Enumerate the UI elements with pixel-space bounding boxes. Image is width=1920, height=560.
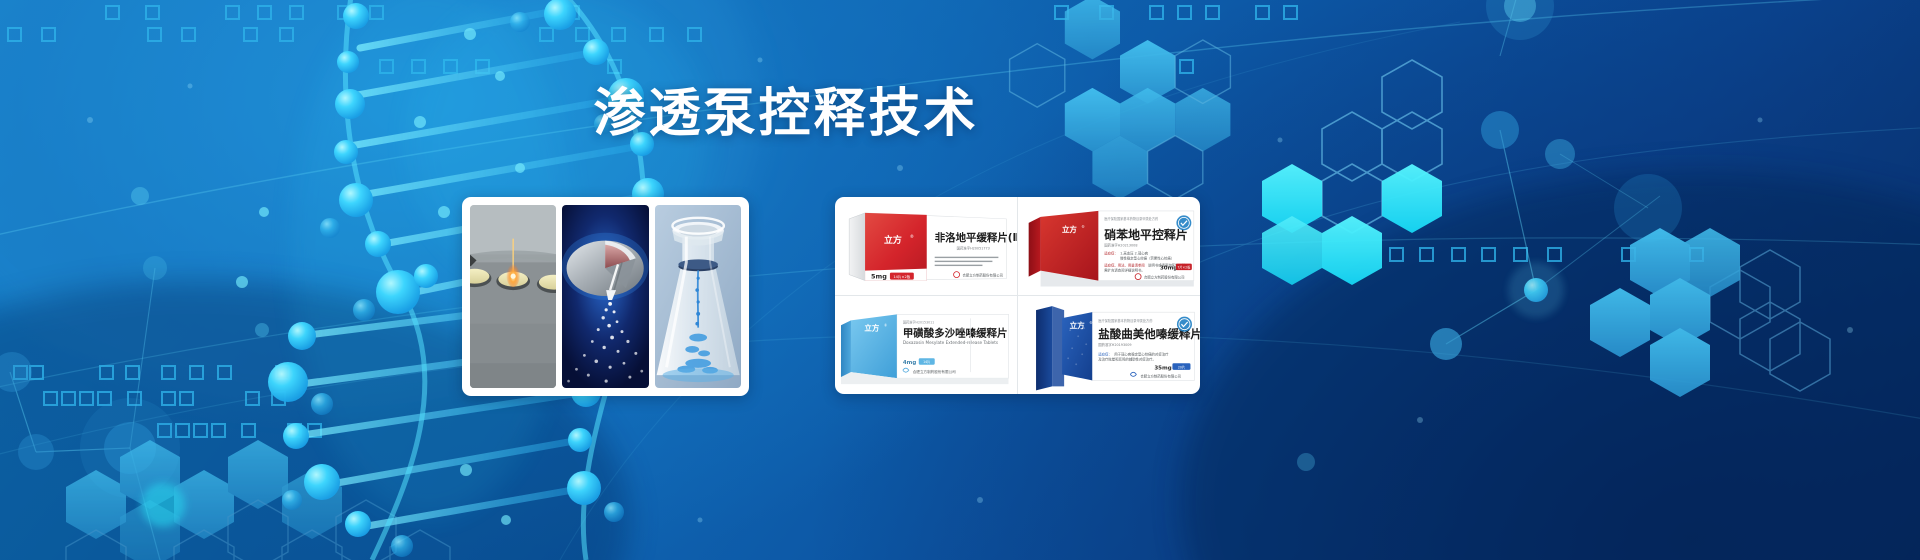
svg-text:®: ® <box>1081 225 1084 229</box>
hexagon-cluster-icon <box>1590 228 1830 397</box>
photo-dissolution-flask[interactable] <box>655 205 741 388</box>
svg-text:立方: 立方 <box>1069 320 1085 330</box>
product-card-felodipine[interactable]: 立方 ® 非洛地平缓释片(Ⅱ) 国药准字H20051773 5mg 14片×2板… <box>835 197 1018 296</box>
svg-text:慢性稳定型心绞痛（劳累性心绞痛）: 慢性稳定型心绞痛（劳累性心绞痛） <box>1120 256 1174 261</box>
product-card-trimetazidine[interactable]: 立方 ® 医疗保险国家基本药物目录甲类处方药 盐酸曲美他嗪缓释片 国药准字H20… <box>1018 296 1201 395</box>
svg-text:7片×2板: 7片×2板 <box>1177 265 1191 270</box>
banner-title: 渗透泵控释技术 <box>0 86 1572 142</box>
svg-text:硝苯地平控释片: 硝苯地平控释片 <box>1104 228 1187 242</box>
svg-text:14片: 14片 <box>923 359 930 364</box>
svg-text:30mg: 30mg <box>1159 266 1176 272</box>
photo-tablet-cross-section[interactable] <box>562 205 648 388</box>
svg-text:国药准字H20193009: 国药准字H20193009 <box>1098 342 1131 347</box>
svg-text:5mg: 5mg <box>871 273 887 281</box>
svg-text:立方: 立方 <box>884 234 902 246</box>
svg-text:非洛地平缓释片(Ⅱ): 非洛地平缓释片(Ⅱ) <box>935 231 1017 244</box>
product-card-doxazosin[interactable]: 立方 ® 国药准字H20153011 甲磺酸多沙唑嗪缓释片 Doxazosin … <box>835 296 1018 395</box>
svg-text:医疗保险国家基本药物目录甲类处方药: 医疗保险国家基本药物目录甲类处方药 <box>1104 216 1158 221</box>
svg-text:立方: 立方 <box>864 322 879 332</box>
svg-text:20片: 20片 <box>1177 364 1184 369</box>
svg-text:®: ® <box>910 234 914 239</box>
svg-text:®: ® <box>884 323 887 327</box>
svg-text:4mg: 4mg <box>903 360 917 366</box>
product-showcase-panel: 立方 ® 非洛地平缓释片(Ⅱ) 国药准字H20051773 5mg 14片×2板… <box>835 197 1200 394</box>
svg-text:国药准字H20051773: 国药准字H20051773 <box>957 246 990 251</box>
svg-text:14片×2板: 14片×2板 <box>893 274 910 279</box>
svg-text:合肥立方制药股份有限公司: 合肥立方制药股份有限公司 <box>1140 373 1181 378</box>
photo-laser-drilling[interactable] <box>470 205 556 388</box>
svg-text:合肥立方制药股份有限公司: 合肥立方制药股份有限公司 <box>963 273 1004 278</box>
svg-text:适应症、用法、用量请参阅: 适应症、用法、用量请参阅 <box>1104 263 1145 268</box>
svg-text:1.高血压 2.冠心病: 1.高血压 2.冠心病 <box>1120 251 1148 256</box>
product-card-nifedipine[interactable]: 立方 ® 医疗保险国家基本药物目录甲类处方药 硝苯地平控释片 国药准字H2021… <box>1018 197 1201 296</box>
svg-text:适应症：: 适应症： <box>1098 351 1112 356</box>
hero-banner: 渗透泵控释技术 <box>0 0 1920 560</box>
svg-text:用于冠心病稳定型心绞痛的对症治疗: 用于冠心病稳定型心绞痛的对症治疗 <box>1114 351 1169 356</box>
svg-text:及治疗眩晕和耳鸣的辅助性对症治疗。: 及治疗眩晕和耳鸣的辅助性对症治疗。 <box>1098 356 1156 361</box>
svg-text:甲磺酸多沙唑嗪缓释片: 甲磺酸多沙唑嗪缓释片 <box>903 326 1008 339</box>
svg-text:国药准字H20213008: 国药准字H20213008 <box>1104 243 1137 248</box>
svg-text:立方: 立方 <box>1061 224 1076 234</box>
svg-text:适应症：: 适应症： <box>1104 251 1118 256</box>
process-photo-panel <box>462 197 749 396</box>
svg-text:医疗保险国家基本药物目录甲类处方药: 医疗保险国家基本药物目录甲类处方药 <box>1098 318 1152 323</box>
svg-text:合肥立方制药股份有限公司: 合肥立方制药股份有限公司 <box>1144 275 1185 280</box>
svg-text:合肥立方制药股份有限公司: 合肥立方制药股份有限公司 <box>913 369 956 374</box>
svg-text:Doxazosin Mesylate Extended-re: Doxazosin Mesylate Extended-release Tabl… <box>903 340 998 345</box>
svg-text:需扩充请查阅详细说明书。: 需扩充请查阅详细说明书。 <box>1104 268 1145 273</box>
svg-text:35mg: 35mg <box>1154 365 1171 371</box>
svg-text:国药准字H20153011: 国药准字H20153011 <box>903 319 934 324</box>
svg-text:®: ® <box>1089 321 1092 325</box>
hexagon-honeycomb-icon <box>66 440 450 560</box>
